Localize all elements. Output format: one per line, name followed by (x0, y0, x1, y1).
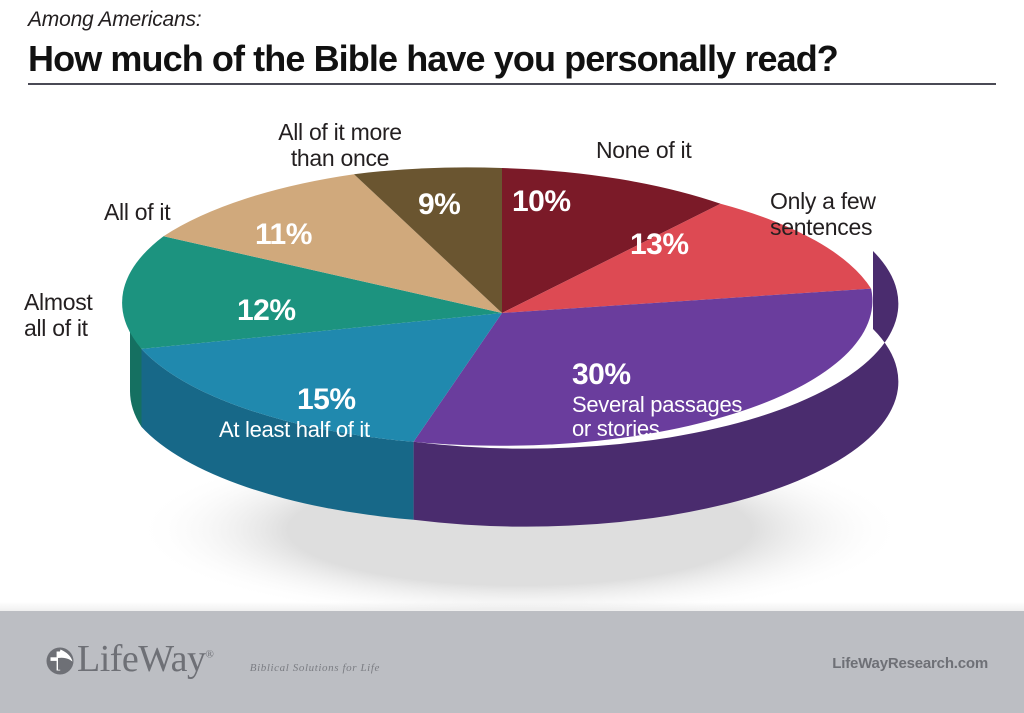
slice-value-none-of-it: 10% (512, 185, 571, 219)
percent-none-of-it: 10% (512, 185, 571, 219)
pie-chart-svg (0, 100, 1024, 610)
percent-several-passages: 30% (572, 358, 742, 392)
callout-few-sentences: Only a few sentences (770, 188, 1000, 240)
lifeway-name: LifeWay® (77, 638, 213, 680)
kicker-text: Among Americans: (28, 8, 996, 31)
site-url[interactable]: LifeWayResearch.com (832, 655, 988, 672)
callout-none-of-it: None of it (596, 137, 816, 163)
slice-value-few-sentences: 13% (630, 228, 689, 262)
percent-at-least-half: 15% (297, 383, 370, 417)
callout-almost-all-of-it: Almost all of it (24, 289, 166, 341)
page-title: How much of the Bible have you personall… (28, 38, 996, 79)
slice-value-almost-all: 12% (237, 294, 296, 328)
lifeway-name-text: LifeWay (77, 638, 205, 680)
infographic-page: Among Americans: How much of the Bible h… (0, 0, 1024, 713)
percent-all-of-it: 11% (255, 218, 312, 252)
slice-value-at-least-half: 15% At least half of it (297, 383, 370, 442)
pie-chart: None of it Only a few sentences All of i… (0, 100, 1024, 610)
slice-value-all-of-it: 11% (255, 218, 312, 252)
percent-all-more-than-once: 9% (418, 188, 460, 222)
slice-value-all-more-than-once: 9% (418, 188, 460, 222)
lifeway-logo[interactable]: LifeWay® Biblical Solutions for Life (45, 641, 380, 681)
sublabel-at-least-half: At least half of it (219, 418, 370, 443)
slice-value-several-passages: 30% Several passages or stories (572, 358, 742, 442)
lifeway-globe-icon (45, 646, 75, 681)
percent-few-sentences: 13% (630, 228, 689, 262)
lifeway-tagline: Biblical Solutions for Life (250, 662, 380, 674)
callout-all-of-it: All of it (104, 199, 240, 225)
callout-all-more-than-once: All of it more than once (240, 119, 440, 171)
registered-mark: ® (205, 648, 213, 660)
sublabel-several-passages: Several passages or stories (572, 393, 742, 442)
percent-almost-all: 12% (237, 294, 296, 328)
title-underline (28, 83, 996, 85)
header: Among Americans: How much of the Bible h… (28, 8, 996, 85)
lifeway-wordmark: LifeWay® Biblical Solutions for Life (77, 641, 380, 677)
footer: LifeWay® Biblical Solutions for Life Lif… (0, 611, 1024, 713)
